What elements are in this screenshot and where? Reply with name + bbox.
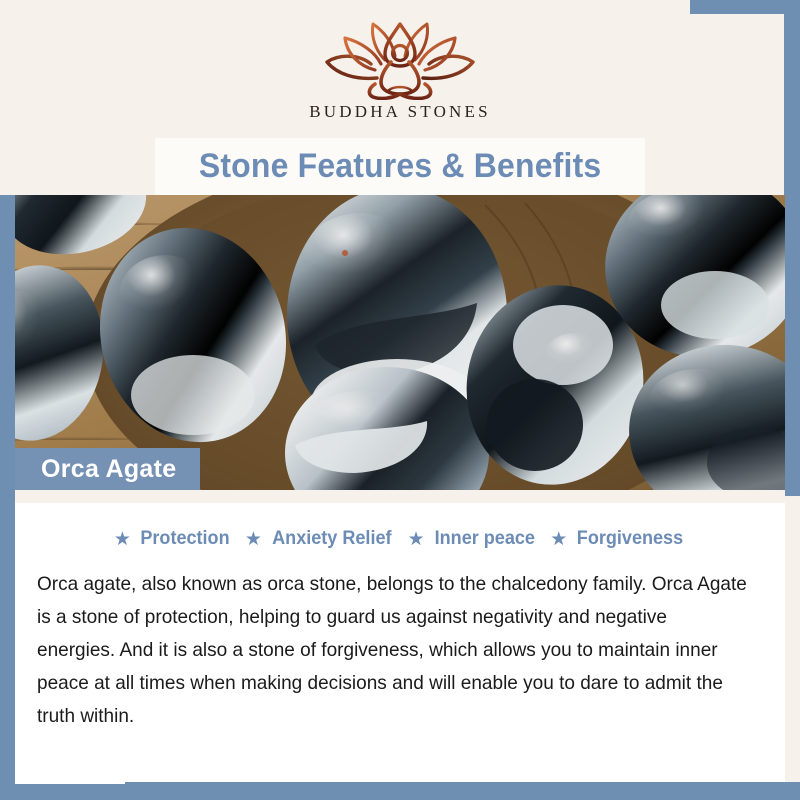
stone-description: Orca agate, also known as orca stone, be… xyxy=(37,568,749,733)
benefit-label: Anxiety Relief xyxy=(272,528,391,550)
star-icon: ★ xyxy=(408,530,425,549)
page-title: Stone Features & Benefits xyxy=(199,147,602,186)
title-banner: Stone Features & Benefits xyxy=(155,138,645,195)
stone-photo xyxy=(15,195,785,490)
benefits-row: ★ Protection ★ Anxiety Relief ★ Inner pe… xyxy=(15,528,785,550)
brand-header: BUDDHA STONES xyxy=(0,0,800,140)
star-icon: ★ xyxy=(245,530,262,549)
right-accent-bar xyxy=(784,86,800,496)
benefit-item: ★ Forgiveness xyxy=(550,528,686,550)
bottom-accent-bar xyxy=(0,782,800,800)
content-panel: ★ Protection ★ Anxiety Relief ★ Inner pe… xyxy=(15,490,785,782)
benefit-item: ★ Inner peace xyxy=(408,528,538,550)
star-icon: ★ xyxy=(114,530,131,549)
benefit-label: Inner peace xyxy=(434,528,534,550)
brand-name: BUDDHA STONES xyxy=(309,102,491,122)
infographic-poster: BUDDHA STONES Stone Features & Benefits xyxy=(0,0,800,800)
left-accent-bar xyxy=(0,195,15,715)
benefit-item: ★ Anxiety Relief xyxy=(245,528,395,550)
benefit-label: Protection xyxy=(140,528,229,550)
benefit-label: Forgiveness xyxy=(577,528,683,550)
lotus-meditation-icon xyxy=(315,18,485,100)
benefit-item: ★ Protection xyxy=(114,528,232,550)
stone-name-label: Orca Agate xyxy=(15,448,200,490)
cream-divider-strip xyxy=(15,490,785,503)
star-icon: ★ xyxy=(550,530,567,549)
